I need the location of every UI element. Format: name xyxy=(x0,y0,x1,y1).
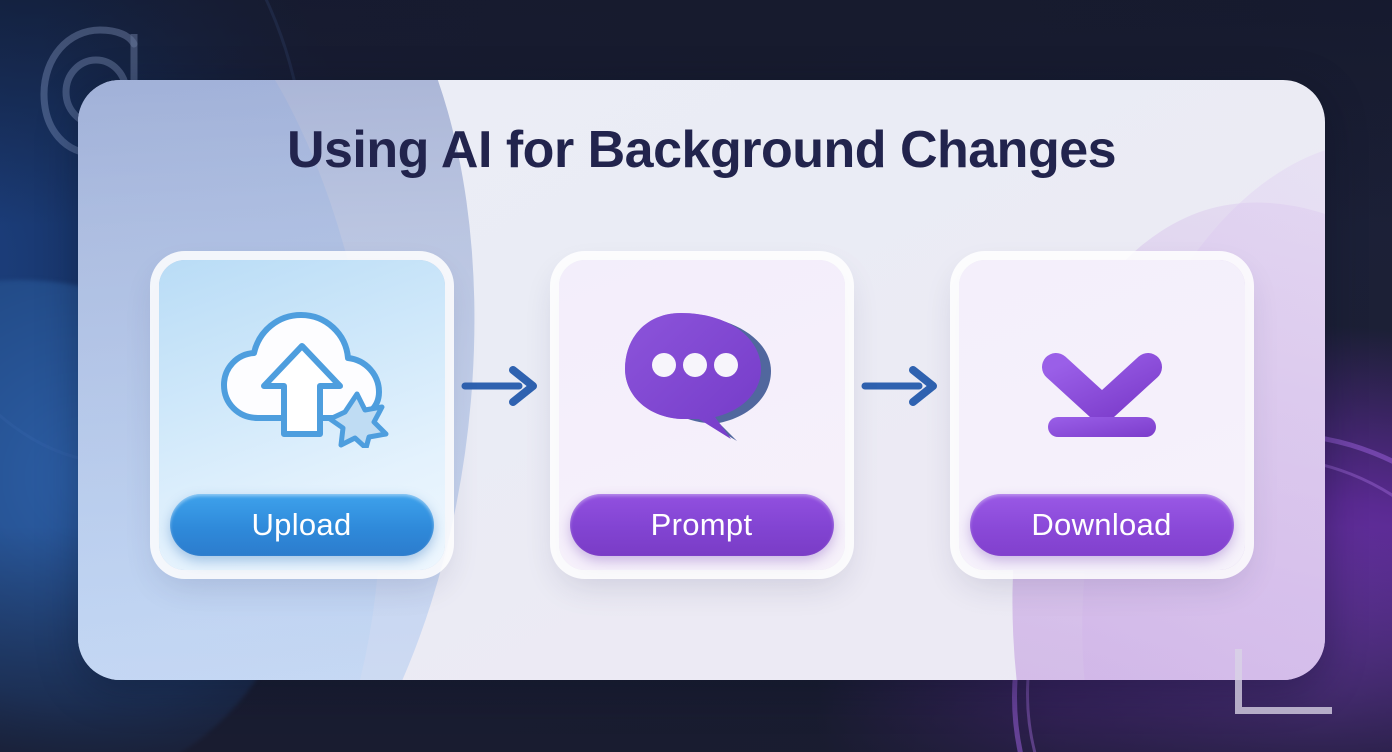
connector-1 xyxy=(445,366,559,406)
upload-icon-area xyxy=(159,260,445,494)
prompt-icon-area xyxy=(559,260,845,494)
download-icon-area xyxy=(959,260,1245,494)
arrow-right-icon xyxy=(861,366,943,406)
arrow-right-icon xyxy=(461,366,543,406)
step-card-prompt[interactable]: Prompt xyxy=(559,260,845,570)
cloud-upload-icon xyxy=(214,306,390,448)
download-arrow-icon xyxy=(1040,311,1164,443)
chat-bubble-icon xyxy=(619,307,785,447)
prompt-button[interactable]: Prompt xyxy=(570,494,834,556)
step-card-upload[interactable]: Upload xyxy=(159,260,445,570)
connector-2 xyxy=(845,366,959,406)
main-panel: Using AI for Background Changes Upload xyxy=(78,80,1325,680)
page-title: Using AI for Background Changes xyxy=(78,120,1325,180)
download-button[interactable]: Download xyxy=(970,494,1234,556)
corner-bracket-decoration xyxy=(1235,649,1332,714)
step-card-download[interactable]: Download xyxy=(959,260,1245,570)
workflow-steps: Upload xyxy=(78,255,1325,575)
upload-button[interactable]: Upload xyxy=(170,494,434,556)
infographic-canvas: Using AI for Background Changes Upload xyxy=(0,0,1392,752)
